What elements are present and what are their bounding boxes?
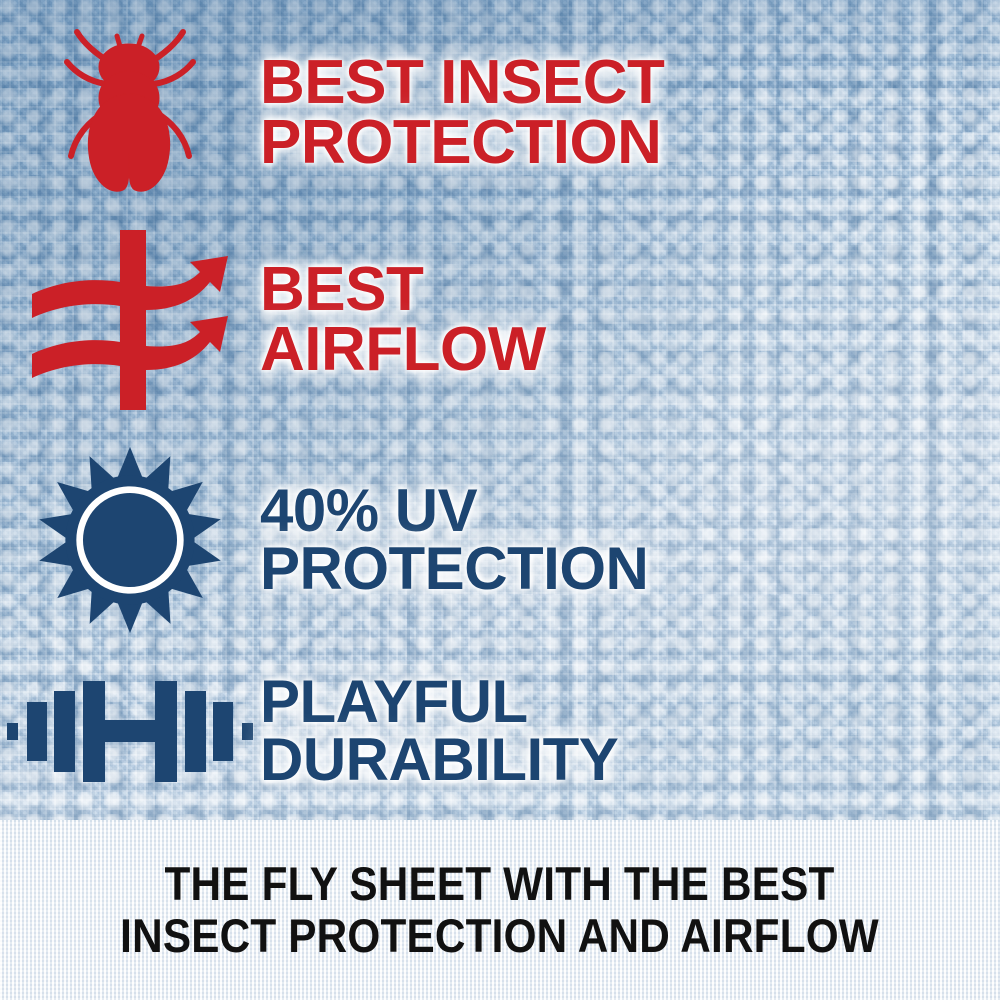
feature-label-airflow: BEST AIRFLOW <box>260 260 546 379</box>
caption-text: THE FLY SHEET WITH THE BEST INSECT PROTE… <box>121 858 880 961</box>
feature-row-uv-protection: 40% UV PROTECTION <box>0 440 1000 640</box>
dumbbell-icon <box>5 661 255 801</box>
product-feature-infographic: BEST INSECT PROTECTION <box>0 0 1000 1000</box>
feature-label-uv-protection: 40% UV PROTECTION <box>260 482 648 597</box>
feature-text-durability: PLAYFUL DURABILITY <box>260 673 618 788</box>
feature-icon-uv-protection <box>0 445 260 635</box>
feature-text-insect-protection: BEST INSECT PROTECTION <box>260 53 664 172</box>
sun-disc <box>65 475 194 604</box>
feature-text-uv-protection: 40% UV PROTECTION <box>260 482 648 597</box>
feature-text-airflow: BEST AIRFLOW <box>260 260 546 379</box>
sun-icon <box>35 445 225 635</box>
caption-bar: THE FLY SHEET WITH THE BEST INSECT PROTE… <box>0 820 1000 1000</box>
feature-icon-airflow <box>0 230 260 410</box>
feature-label-insect-protection: BEST INSECT PROTECTION <box>260 53 664 172</box>
feature-row-durability: PLAYFUL DURABILITY <box>0 648 1000 813</box>
feature-row-insect-protection: BEST INSECT PROTECTION <box>0 10 1000 215</box>
feature-label-durability: PLAYFUL DURABILITY <box>260 673 618 788</box>
fly-icon <box>55 20 205 205</box>
airflow-arrows-icon <box>28 230 233 410</box>
feature-row-airflow: BEST AIRFLOW <box>0 222 1000 417</box>
feature-icon-insect-protection <box>0 20 260 205</box>
sun-rays <box>36 447 223 633</box>
feature-icon-durability <box>0 661 260 801</box>
